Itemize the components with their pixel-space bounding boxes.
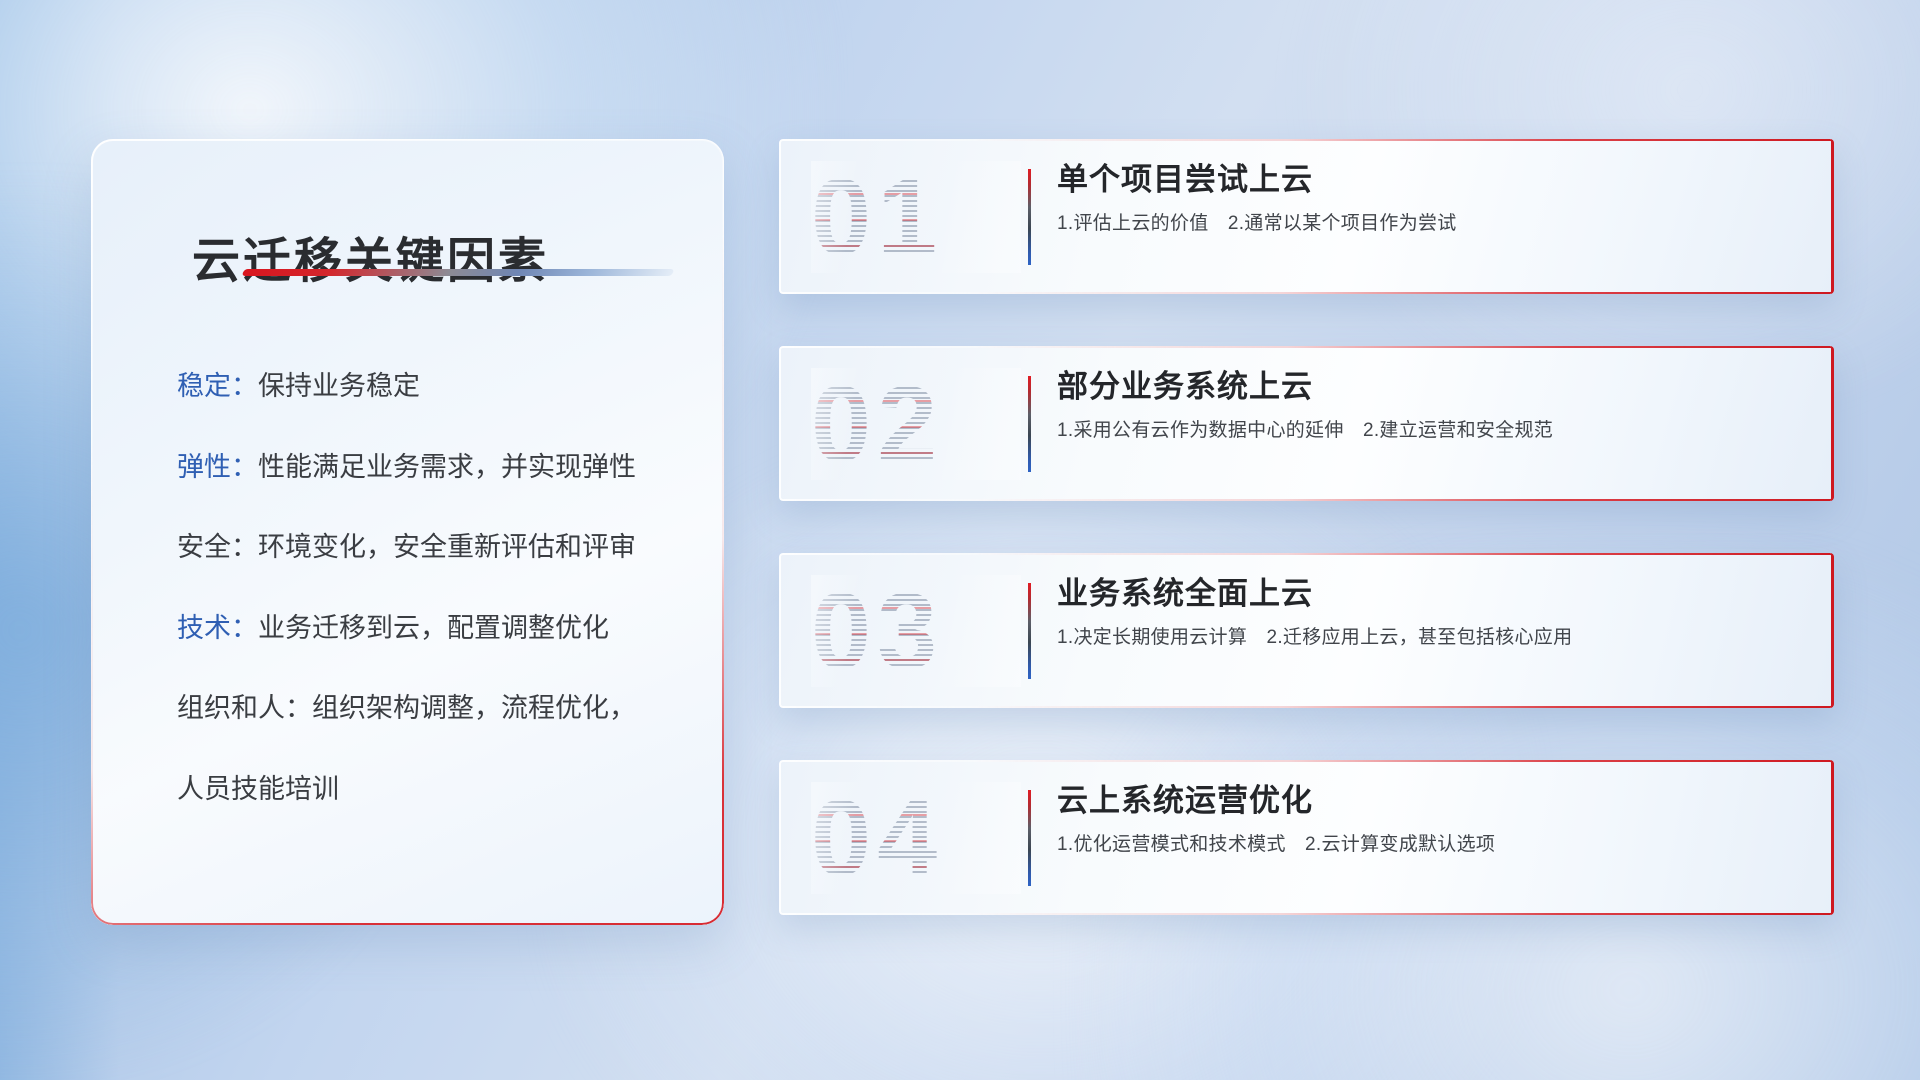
stage-number-fade-overlay xyxy=(811,782,1021,894)
stage-number-fade-overlay xyxy=(811,368,1021,480)
stage-card-body: 云上系统运营优化 1.优化运营模式和技术模式 2.云计算变成默认选项 xyxy=(1057,782,1808,857)
list-item-text: 组织架构调整，流程优化， xyxy=(312,693,636,723)
list-item-key: 组织和人： xyxy=(177,693,312,723)
stage-number-glyph-red: 01 xyxy=(811,161,943,273)
list-item: 弹性：性能满足业务需求，并实现弹性 xyxy=(177,450,690,485)
stage-card[interactable]: 03 03 业务系统全面上云 1.决定长期使用云计算 2.迁移应用上云，甚至包括… xyxy=(779,553,1834,708)
list-item: 安全：环境变化，安全重新评估和评审 xyxy=(177,530,690,565)
panel-title: 云迁移关键因素 xyxy=(192,221,549,291)
key-factors-list: 稳定：保持业务稳定 弹性：性能满足业务需求，并实现弹性 安全：环境变化，安全重新… xyxy=(177,369,690,806)
stage-number-fade-overlay xyxy=(811,161,1021,273)
stage-title: 单个项目尝试上云 xyxy=(1057,161,1808,200)
list-item-key: 技术： xyxy=(177,613,258,643)
stage-number-glyph-red: 02 xyxy=(811,368,943,480)
stage-divider-bar xyxy=(1028,169,1031,265)
stage-number-glyph: 02 xyxy=(811,363,943,484)
stage-divider-bar xyxy=(1028,583,1031,679)
stage-card-body: 业务系统全面上云 1.决定长期使用云计算 2.迁移应用上云，甚至包括核心应用 xyxy=(1057,575,1808,650)
stage-number-glyph: 01 xyxy=(811,156,943,277)
stage-card-body: 部分业务系统上云 1.采用公有云作为数据中心的延伸 2.建立运营和安全规范 xyxy=(1057,368,1808,443)
stage-description: 1.决定长期使用云计算 2.迁移应用上云，甚至包括核心应用 xyxy=(1057,626,1808,651)
stage-number-fade-overlay xyxy=(811,575,1021,687)
stage-number: 02 02 xyxy=(811,368,1021,480)
list-item: 人员技能培训 xyxy=(177,772,690,807)
stage-number-glyph: 03 xyxy=(811,570,943,691)
title-underline-accent xyxy=(242,269,675,276)
stage-card[interactable]: 04 04 云上系统运营优化 1.优化运营模式和技术模式 2.云计算变成默认选项 xyxy=(779,760,1834,915)
list-item-text: 性能满足业务需求，并实现弹性 xyxy=(258,452,636,482)
stage-description: 1.优化运营模式和技术模式 2.云计算变成默认选项 xyxy=(1057,833,1808,858)
stage-description: 1.采用公有云作为数据中心的延伸 2.建立运营和安全规范 xyxy=(1057,419,1808,444)
list-item: 组织和人：组织架构调整，流程优化， xyxy=(177,691,690,726)
stage-divider-bar xyxy=(1028,376,1031,472)
stage-card[interactable]: 01 01 单个项目尝试上云 1.评估上云的价值 2.通常以某个项目作为尝试 xyxy=(779,139,1834,294)
stage-card-body: 单个项目尝试上云 1.评估上云的价值 2.通常以某个项目作为尝试 xyxy=(1057,161,1808,236)
stage-number-glyph-red: 04 xyxy=(811,782,943,894)
stage-description: 1.评估上云的价值 2.通常以某个项目作为尝试 xyxy=(1057,212,1808,237)
list-item-text: 保持业务稳定 xyxy=(258,371,420,401)
list-item-text: 业务迁移到云，配置调整优化 xyxy=(258,613,609,643)
stage-number: 04 04 xyxy=(811,782,1021,894)
list-item-key: 弹性： xyxy=(177,452,258,482)
stage-number: 03 03 xyxy=(811,575,1021,687)
key-factors-panel: 云迁移关键因素 稳定：保持业务稳定 弹性：性能满足业务需求，并实现弹性 安全：环… xyxy=(91,139,724,925)
list-item-text: 环境变化，安全重新评估和评审 xyxy=(258,532,636,562)
list-item: 技术：业务迁移到云，配置调整优化 xyxy=(177,611,690,646)
slide-content: 云迁移关键因素 稳定：保持业务稳定 弹性：性能满足业务需求，并实现弹性 安全：环… xyxy=(0,0,1920,1080)
stage-card[interactable]: 02 02 部分业务系统上云 1.采用公有云作为数据中心的延伸 2.建立运营和安… xyxy=(779,346,1834,501)
stage-title: 业务系统全面上云 xyxy=(1057,575,1808,614)
list-item-text: 人员技能培训 xyxy=(177,774,339,804)
list-item: 稳定：保持业务稳定 xyxy=(177,369,690,404)
stage-number-glyph: 04 xyxy=(811,777,943,898)
stage-divider-bar xyxy=(1028,790,1031,886)
stage-cards-list: 01 01 单个项目尝试上云 1.评估上云的价值 2.通常以某个项目作为尝试 0… xyxy=(779,139,1834,915)
stage-number: 01 01 xyxy=(811,161,1021,273)
list-item-key: 安全： xyxy=(177,532,258,562)
stage-number-glyph-red: 03 xyxy=(811,575,943,687)
stage-title: 部分业务系统上云 xyxy=(1057,368,1808,407)
list-item-key: 稳定： xyxy=(177,371,258,401)
stage-title: 云上系统运营优化 xyxy=(1057,782,1808,821)
